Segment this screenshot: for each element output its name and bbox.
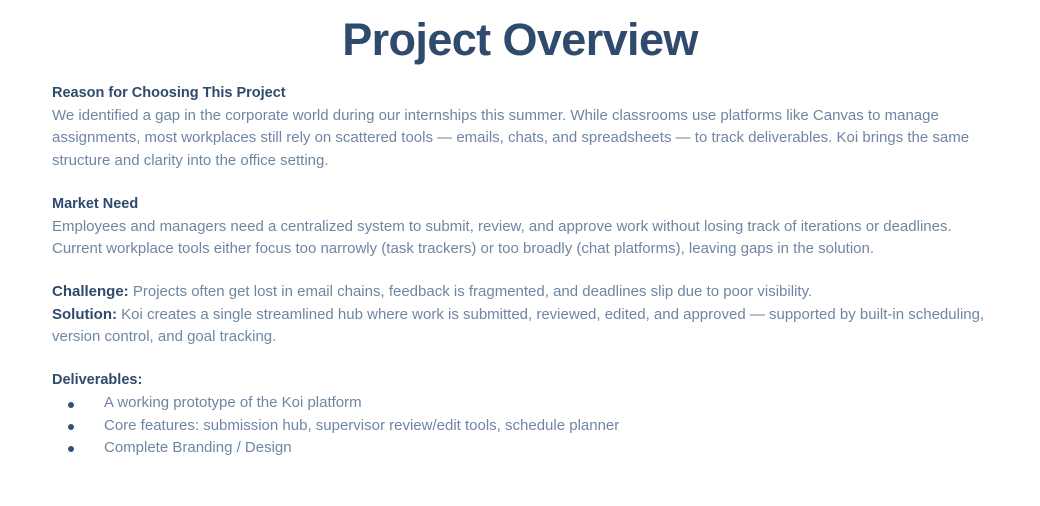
list-item-label: A working prototype of the Koi platform xyxy=(104,394,362,411)
bullet-dot-icon xyxy=(68,446,74,452)
section-heading-market-need: Market Need xyxy=(52,193,988,215)
section-market-need: Market Need Employees and managers need … xyxy=(52,193,988,261)
bullet-dot-icon xyxy=(68,402,74,408)
challenge-text: Projects often get lost in email chains,… xyxy=(129,283,812,300)
document-content: Reason for Choosing This Project We iden… xyxy=(0,67,1040,459)
challenge-label: Challenge: xyxy=(52,283,129,300)
bullet-dot-icon xyxy=(68,424,74,430)
section-deliverables: Deliverables: A working prototype of the… xyxy=(52,369,988,459)
section-reason-for-choosing: Reason for Choosing This Project We iden… xyxy=(52,82,988,172)
list-item: A working prototype of the Koi platform xyxy=(52,392,988,414)
section-challenge-solution: Challenge: Projects often get lost in em… xyxy=(52,281,988,348)
section-heading-reason: Reason for Choosing This Project xyxy=(52,82,988,104)
list-item-label: Complete Branding / Design xyxy=(104,439,292,456)
deliverables-list: A working prototype of the Koi platform … xyxy=(52,392,988,459)
section-body-reason: We identified a gap in the corporate wor… xyxy=(52,105,988,172)
document-page: Project Overview Reason for Choosing Thi… xyxy=(0,0,1040,506)
list-item: Core features: submission hub, superviso… xyxy=(52,415,988,437)
solution-text: Koi creates a single streamlined hub whe… xyxy=(52,306,984,345)
section-heading-deliverables: Deliverables: xyxy=(52,369,988,391)
page-title: Project Overview xyxy=(0,0,1040,67)
solution-line: Solution: Koi creates a single streamlin… xyxy=(52,304,988,349)
section-body-market-need: Employees and managers need a centralize… xyxy=(52,216,988,261)
solution-label: Solution: xyxy=(52,306,117,323)
list-item-label: Core features: submission hub, superviso… xyxy=(104,417,619,434)
challenge-line: Challenge: Projects often get lost in em… xyxy=(52,281,988,303)
list-item: Complete Branding / Design xyxy=(52,437,988,459)
